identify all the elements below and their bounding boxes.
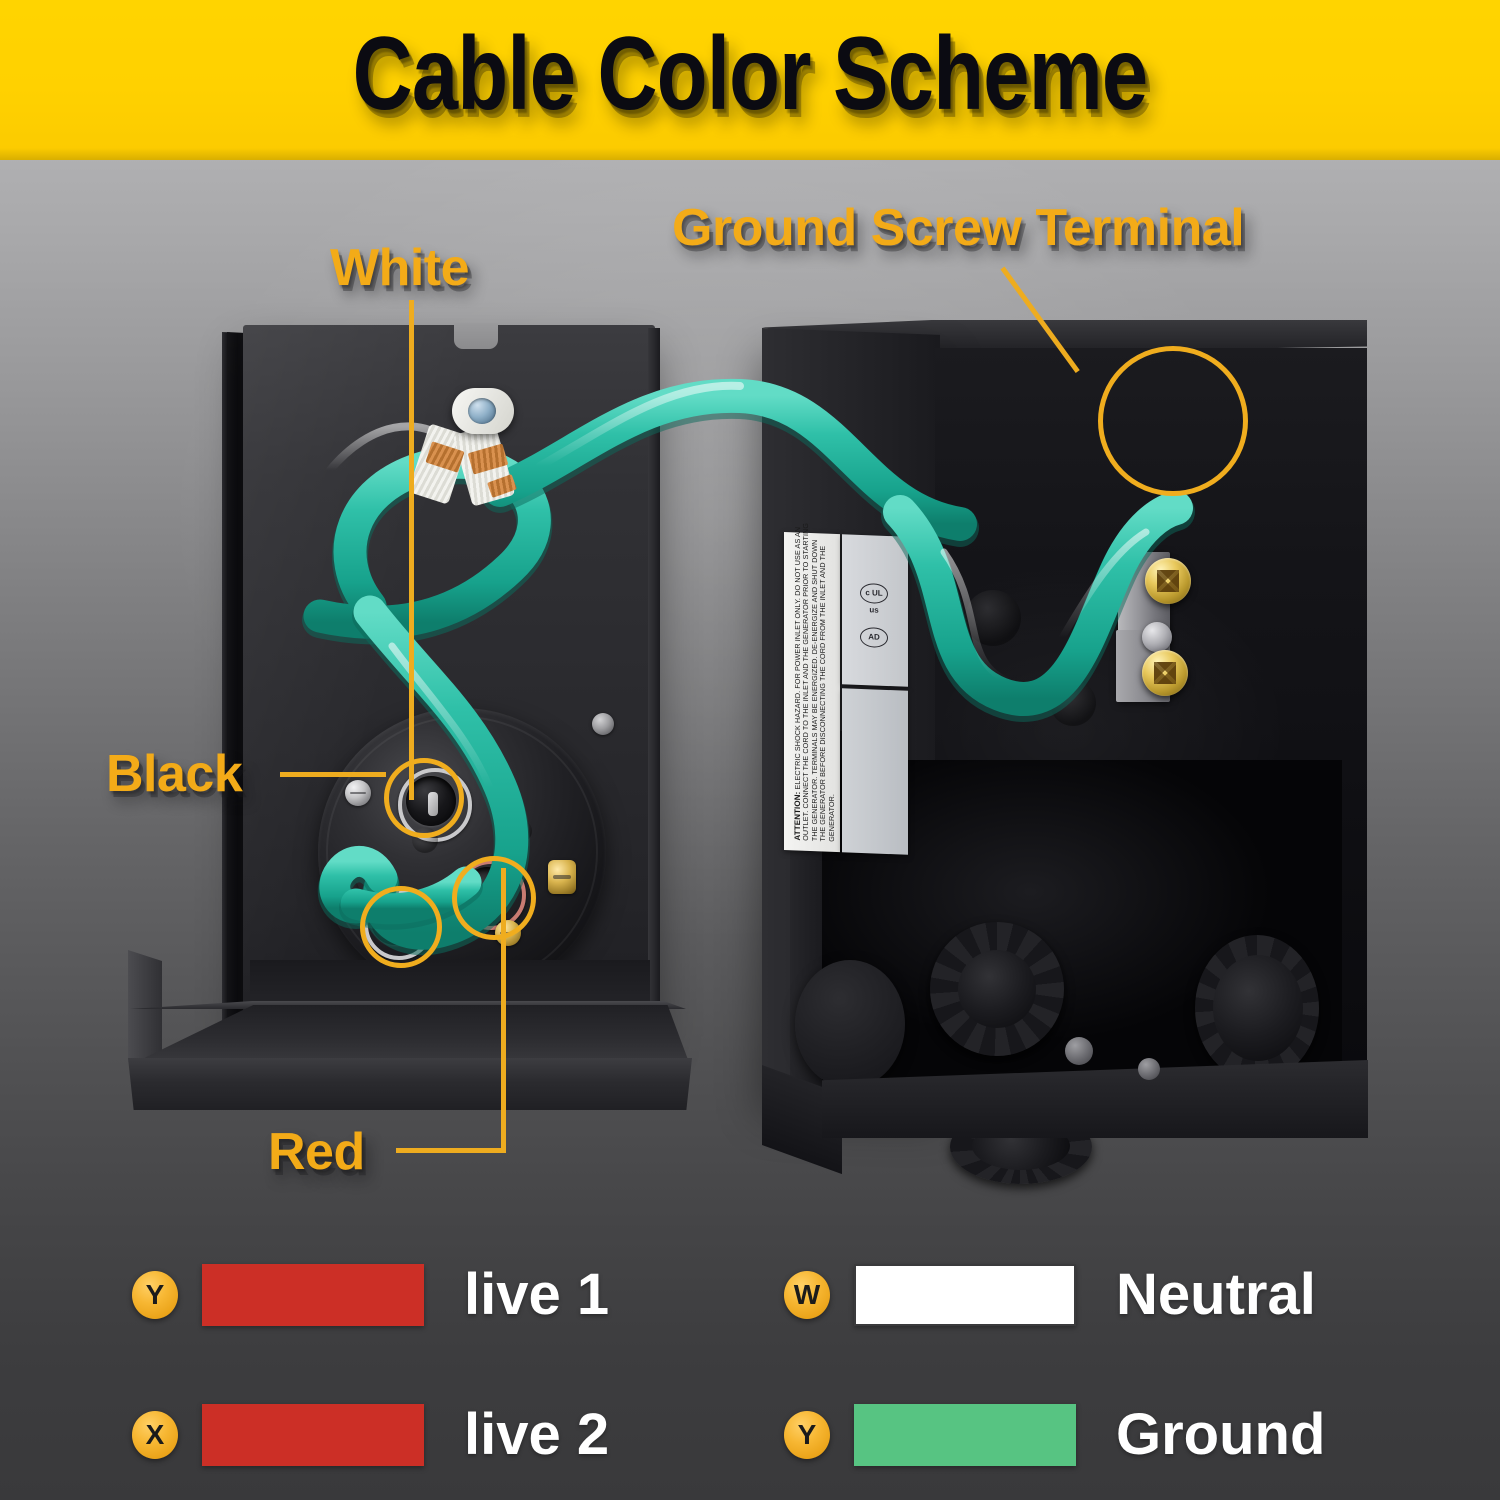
legend-swatch-neutral bbox=[854, 1264, 1076, 1326]
legend-label-live-2: live 2 bbox=[464, 1406, 609, 1464]
banner-bottom-shade bbox=[0, 148, 1500, 160]
legend-badge-y2: Y bbox=[784, 1411, 830, 1459]
legend-badge-y1: Y bbox=[132, 1271, 178, 1319]
legend-label-neutral: Neutral bbox=[1116, 1266, 1316, 1324]
title-banner: Cable Color Scheme bbox=[0, 0, 1500, 160]
legend-item-neutral: W Neutral bbox=[784, 1264, 1316, 1326]
legend-item-ground: Y Ground bbox=[784, 1404, 1325, 1466]
cable-color-scheme-infographic: Cable Color Scheme bbox=[0, 0, 1500, 1500]
page-title: Cable Color Scheme bbox=[150, 14, 1350, 134]
ring-lug-bolt bbox=[468, 398, 496, 424]
legend-item-live-1: Y live 1 bbox=[132, 1264, 609, 1326]
legend-swatch-ground bbox=[854, 1404, 1076, 1466]
legend-label-live-1: live 1 bbox=[464, 1266, 609, 1324]
legend-swatch-live-1 bbox=[202, 1264, 424, 1326]
product-photo: ATTENTION: ELECTRIC SHOCK HAZARD. FOR PO… bbox=[0, 160, 1500, 1220]
legend-swatch-live-2 bbox=[202, 1404, 424, 1466]
legend: Y live 1 X live 2 W Neutral Y Ground bbox=[0, 1220, 1500, 1500]
legend-badge-w: W bbox=[784, 1271, 830, 1319]
legend-label-ground: Ground bbox=[1116, 1406, 1325, 1464]
ground-wire-group bbox=[0, 160, 1500, 1220]
legend-badge-x: X bbox=[132, 1411, 178, 1459]
legend-item-live-2: X live 2 bbox=[132, 1404, 609, 1466]
